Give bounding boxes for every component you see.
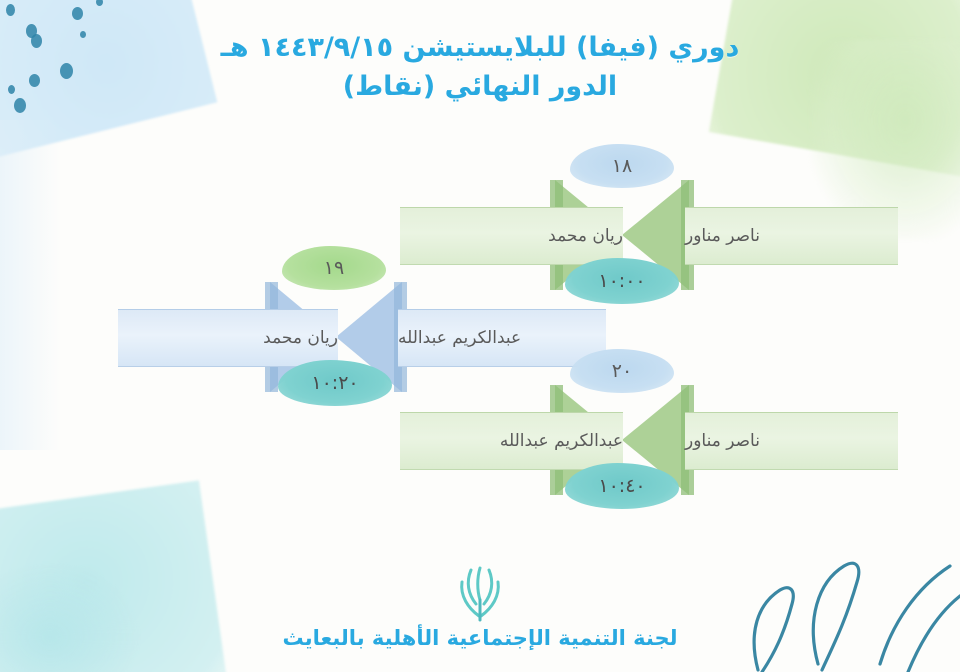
match-18-number: ١٨ bbox=[612, 155, 632, 177]
match-19-left-player-ribbon[interactable]: ريان محمد bbox=[118, 309, 338, 367]
match-19-time-badge: ١٠:٢٠ bbox=[278, 360, 392, 406]
match-20-right-player-ribbon[interactable]: ناصر مناور bbox=[685, 412, 898, 470]
match-20-time-badge: ١٠:٤٠ bbox=[565, 463, 679, 509]
match-18-left-player-ribbon[interactable]: ريان محمد bbox=[400, 207, 623, 265]
match-20-time: ١٠:٤٠ bbox=[598, 475, 645, 497]
match-20-left-player-name: عبدالكريم عبدالله bbox=[500, 431, 623, 451]
match-20-right-player-name: ناصر مناور bbox=[685, 431, 760, 451]
match-18-time-badge: ١٠:٠٠ bbox=[565, 258, 679, 304]
match-18-time: ١٠:٠٠ bbox=[598, 270, 645, 292]
match-19-left-player-name: ريان محمد bbox=[263, 328, 338, 348]
match-19-number-badge: ١٩ bbox=[282, 246, 386, 290]
organization-name: لجنة التنمية الإجتماعية الأهلية بالبعايث bbox=[0, 626, 960, 650]
flame-leaf-logo-icon bbox=[452, 560, 508, 622]
tournament-poster: دوري (فيفا) للبلايستيشن ١٤٤٣/٩/١٥ هـ الد… bbox=[0, 0, 960, 672]
match-20-number-badge: ٢٠ bbox=[570, 349, 674, 393]
match-20[interactable]: عبدالكريم عبدالله ناصر مناور ٢٠ ١٠:٤٠ bbox=[400, 375, 840, 505]
match-18-number-badge: ١٨ bbox=[570, 144, 674, 188]
match-18-left-player-name: ريان محمد bbox=[548, 226, 623, 246]
match-19-time: ١٠:٢٠ bbox=[311, 372, 358, 394]
match-18-right-player-name: ناصر مناور bbox=[685, 226, 760, 246]
match-19-number: ١٩ bbox=[324, 257, 344, 279]
match-20-number: ٢٠ bbox=[612, 360, 632, 382]
match-19-right-player-ribbon[interactable]: عبدالكريم عبدالله bbox=[398, 309, 606, 367]
footer: لجنة التنمية الإجتماعية الأهلية بالبعايث bbox=[0, 560, 960, 650]
match-20-left-player-ribbon[interactable]: عبدالكريم عبدالله bbox=[400, 412, 623, 470]
match-19-right-player-name: عبدالكريم عبدالله bbox=[398, 328, 521, 348]
match-18-right-player-ribbon[interactable]: ناصر مناور bbox=[685, 207, 898, 265]
